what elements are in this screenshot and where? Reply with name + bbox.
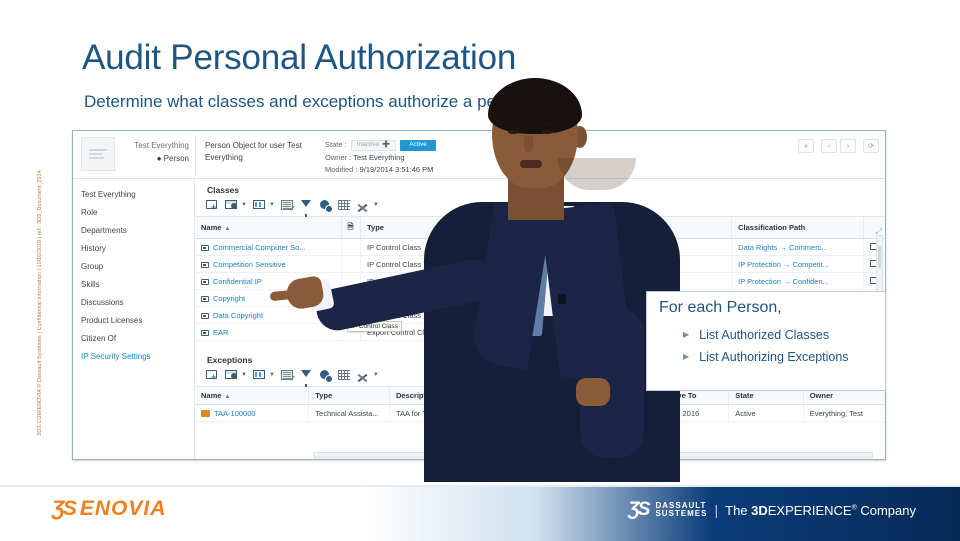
- chevron-down-icon[interactable]: ▼: [241, 372, 247, 378]
- column-name[interactable]: Name▲: [195, 387, 309, 405]
- cell-name[interactable]: TAA-100000: [195, 405, 309, 422]
- class-icon: [201, 330, 209, 336]
- sort-ascending-icon: ▲: [224, 226, 230, 232]
- confidential-legal-strip: 3DS.COM/ENOVIA © Dassault Systèmes | Con…: [37, 153, 43, 453]
- presenter-nose: [524, 136, 533, 152]
- cell-name[interactable]: Competition Sensitive: [195, 256, 341, 273]
- sidebar-item-product-licenses[interactable]: Product Licenses: [73, 311, 194, 329]
- column-name[interactable]: Name▲: [195, 217, 341, 239]
- callout-item-label: List Authorized Classes: [699, 324, 829, 346]
- modified-row: Modified : 9/19/2014 3:51:46 PM: [325, 164, 436, 177]
- callout-item-label: List Authorizing Exceptions: [699, 346, 848, 368]
- object-navigation-sidebar: Test Everything Role Departments History…: [73, 179, 195, 460]
- callout-item-exceptions: ▶ List Authorizing Exceptions: [659, 346, 873, 368]
- logo-divider: |: [714, 502, 718, 518]
- sort-ascending-icon: ▲: [224, 394, 230, 400]
- column-type[interactable]: Type: [309, 387, 390, 405]
- search-icon[interactable]: [318, 368, 333, 382]
- ds-mark-icon: ƷS: [52, 497, 75, 521]
- sidebar-item-citizen-of[interactable]: Citizen Of: [73, 329, 194, 347]
- 3dexperience-tagline: The 3DEXPERIENCE® Company: [725, 503, 916, 518]
- class-icon: [201, 313, 209, 319]
- header-divider: [195, 135, 196, 175]
- tools-icon[interactable]: [356, 368, 371, 382]
- grid-icon[interactable]: [337, 368, 352, 382]
- class-icon: [201, 262, 209, 268]
- sidebar-item-role[interactable]: Role: [73, 203, 194, 221]
- footer-divider: [0, 485, 960, 487]
- class-icon: [201, 245, 209, 251]
- status-badge: Active: [729, 405, 803, 422]
- object-description: Person Object for user Test Everything: [205, 140, 315, 164]
- chevron-down-icon[interactable]: ▼: [269, 202, 275, 208]
- presenter-jaw-shadow: [558, 158, 636, 190]
- columns-icon[interactable]: [252, 368, 267, 382]
- back-icon[interactable]: ‹: [821, 139, 837, 153]
- chevron-down-icon[interactable]: ▼: [373, 202, 379, 208]
- cell-type: Technical Assista...: [309, 405, 390, 422]
- column-doc-icon[interactable]: 🗎: [341, 217, 360, 239]
- modified-label: Modified :: [325, 165, 358, 174]
- search-icon[interactable]: [318, 198, 333, 212]
- owner-row: Owner : Test Everything: [325, 152, 436, 165]
- presenter-eye-left: [508, 130, 519, 134]
- object-name: Test Everything: [121, 140, 189, 152]
- checklist-icon[interactable]: ✓: [280, 368, 295, 382]
- ds-mark-icon: ƷS: [628, 499, 648, 521]
- chevron-down-icon[interactable]: ▼: [373, 372, 379, 378]
- enovia-wordmark: ENOVIA: [80, 497, 167, 521]
- owner-label: Owner :: [325, 153, 351, 162]
- edit-table-icon[interactable]: [224, 198, 239, 212]
- callout-item-classes: ▶ List Authorized Classes: [659, 324, 873, 346]
- exception-icon: [201, 410, 210, 417]
- object-type: ●Person: [121, 154, 189, 163]
- cell-doc: [341, 239, 360, 256]
- new-item-icon[interactable]: +: [205, 368, 220, 382]
- cell-name[interactable]: EAR: [195, 324, 341, 341]
- presenter-lapel-mic: [558, 294, 566, 304]
- page-title: Audit Personal Authorization: [82, 38, 516, 78]
- sidebar-item-ip-security-settings[interactable]: IP Security Settings: [73, 347, 194, 365]
- bullet-icon: ▶: [683, 346, 689, 368]
- sidebar-item-test-everything[interactable]: Test Everything: [73, 185, 194, 203]
- columns-icon[interactable]: [252, 198, 267, 212]
- object-metadata: State : Inactive ➕ Active Owner : Test E…: [325, 139, 436, 177]
- enovia-logo: ƷS ENOVIA: [52, 497, 166, 521]
- class-icon: [201, 279, 209, 285]
- class-icon: [201, 296, 209, 302]
- state-inactive-chip[interactable]: Inactive ➕: [351, 140, 397, 151]
- forward-icon[interactable]: ›: [840, 139, 856, 153]
- state-label: State :: [325, 139, 347, 152]
- sidebar-item-departments[interactable]: Departments: [73, 221, 194, 239]
- person-icon: ●: [157, 154, 162, 163]
- presenter-mouth: [520, 160, 542, 168]
- presenter-hair: [488, 78, 582, 134]
- slide-canvas: Audit Personal Authorization Determine w…: [0, 0, 960, 541]
- cell-path[interactable]: IP Protection → Competit...: [732, 256, 863, 273]
- refresh-icon[interactable]: ⟳: [863, 139, 879, 153]
- cell-path[interactable]: Data Rights → Commerc...: [732, 239, 863, 256]
- chevron-down-icon[interactable]: ▼: [269, 372, 275, 378]
- cell-owner: Everything, Test: [803, 405, 885, 422]
- presenter-eyebrow-left: [507, 123, 520, 126]
- presenter-eye-right: [542, 130, 553, 134]
- cell-path[interactable]: IP Protection → Confiden...: [732, 273, 863, 290]
- presenter-hand-right: [576, 378, 610, 406]
- grid-icon[interactable]: [337, 198, 352, 212]
- presenter-video-overlay: [430, 78, 675, 478]
- owner-value: Test Everything: [353, 153, 404, 162]
- object-thumbnail: [81, 137, 115, 171]
- sidebar-item-group[interactable]: Group: [73, 257, 194, 275]
- for-each-person-callout: For each Person, ▶ List Authorized Class…: [646, 291, 886, 391]
- filter-icon[interactable]: [299, 198, 314, 212]
- ds-wordmark: DASSAULT SUSTEMES: [655, 502, 707, 519]
- home-icon[interactable]: «: [798, 139, 814, 153]
- state-row: State : Inactive ➕ Active: [325, 139, 436, 152]
- checklist-icon[interactable]: ✓: [280, 198, 295, 212]
- slide-footer: ƷS ENOVIA ƷS DASSAULT SUSTEMES | The 3DE…: [0, 485, 960, 541]
- dassault-systemes-logo: ƷS DASSAULT SUSTEMES | The 3DEXPERIENCE®…: [628, 499, 916, 521]
- column-classification-path[interactable]: Classification Path: [732, 217, 863, 239]
- sidebar-item-discussions[interactable]: Discussions: [73, 293, 194, 311]
- modified-value: 9/19/2014 3:51:46 PM: [360, 165, 434, 174]
- chevron-down-icon[interactable]: ▼: [241, 202, 247, 208]
- bullet-icon: ▶: [683, 324, 689, 346]
- filter-icon[interactable]: [299, 368, 314, 382]
- new-item-icon[interactable]: +: [205, 198, 220, 212]
- edit-table-icon[interactable]: [224, 368, 239, 382]
- tools-icon[interactable]: [356, 198, 371, 212]
- presenter-eyebrow-right: [541, 123, 554, 126]
- thumbnail-placeholder-icon: [89, 147, 107, 161]
- cell-doc: [341, 256, 360, 273]
- sidebar-item-history[interactable]: History: [73, 239, 194, 257]
- header-navigation: « ‹ › ⟳: [798, 139, 879, 153]
- cell-name[interactable]: Commercial Computer So...: [195, 239, 341, 256]
- callout-title: For each Person,: [659, 299, 873, 317]
- sidebar-item-skills[interactable]: Skills: [73, 275, 194, 293]
